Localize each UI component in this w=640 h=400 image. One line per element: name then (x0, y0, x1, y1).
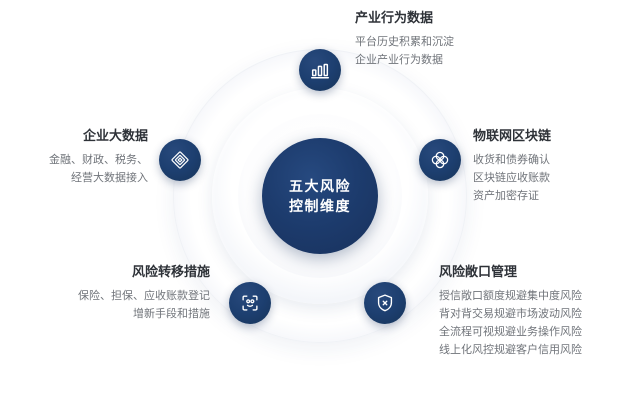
detail-line: 平台历史积累和沉淀 (355, 33, 454, 51)
center-circle: 五大风险 控制维度 (262, 138, 378, 254)
detail-line: 授信敞口额度规避集中度风险 (439, 287, 582, 305)
center-title-line-1: 五大风险 (289, 179, 351, 193)
node-risk-exposure-management[interactable] (364, 282, 406, 324)
label-risk-exposure-management: 风险敞口管理 授信敞口额度规避集中度风险 背对背交易规避市场波动风险 全流程可视… (439, 264, 582, 359)
data-diamond-icon (169, 149, 191, 171)
label-title: 企业大数据 (20, 128, 148, 144)
detail-line: 经营大数据接入 (20, 169, 148, 187)
bar-chart-icon (309, 59, 331, 81)
risk-control-infographic: 五大风险 控制维度 (0, 0, 640, 400)
label-title: 产业行为数据 (355, 10, 454, 26)
detail-line: 收货和债券确认 (473, 151, 551, 169)
label-details: 金融、财政、税务、 经营大数据接入 (20, 151, 148, 187)
detail-line: 线上化风控规避客户信用风险 (439, 341, 582, 359)
label-details: 收货和债券确认 区块链应收账款 资产加密存证 (473, 151, 551, 205)
node-risk-transfer-measures[interactable] (229, 282, 271, 324)
label-risk-transfer-measures: 风险转移措施 保险、担保、应收账款登记 增新手段和措施 (10, 264, 210, 323)
detail-line: 背对背交易规避市场波动风险 (439, 305, 582, 323)
label-industry-behavior-data: 产业行为数据 平台历史积累和沉淀 企业产业行为数据 (355, 10, 454, 69)
label-enterprise-big-data: 企业大数据 金融、财政、税务、 经营大数据接入 (20, 128, 148, 187)
detail-line: 金融、财政、税务、 (20, 151, 148, 169)
label-details: 平台历史积累和沉淀 企业产业行为数据 (355, 33, 454, 69)
detail-line: 资产加密存证 (473, 187, 551, 205)
label-title: 风险敞口管理 (439, 264, 582, 280)
center-title-line-2: 控制维度 (289, 199, 351, 213)
label-title: 风险转移措施 (10, 264, 210, 280)
node-iot-blockchain[interactable] (419, 139, 461, 181)
scan-frame-icon (239, 292, 261, 314)
node-enterprise-big-data[interactable] (159, 139, 201, 181)
label-iot-blockchain: 物联网区块链 收货和债券确认 区块链应收账款 资产加密存证 (473, 128, 551, 205)
detail-line: 增新手段和措施 (10, 305, 210, 323)
detail-line: 全流程可视规避业务操作风险 (439, 323, 582, 341)
label-title: 物联网区块链 (473, 128, 551, 144)
node-industry-behavior-data[interactable] (299, 49, 341, 91)
blockchain-rings-icon (429, 149, 451, 171)
detail-line: 保险、担保、应收账款登记 (10, 287, 210, 305)
label-details: 保险、担保、应收账款登记 增新手段和措施 (10, 287, 210, 323)
detail-line: 企业产业行为数据 (355, 51, 454, 69)
shield-x-icon (374, 292, 396, 314)
detail-line: 区块链应收账款 (473, 169, 551, 187)
label-details: 授信敞口额度规避集中度风险 背对背交易规避市场波动风险 全流程可视规避业务操作风… (439, 287, 582, 360)
